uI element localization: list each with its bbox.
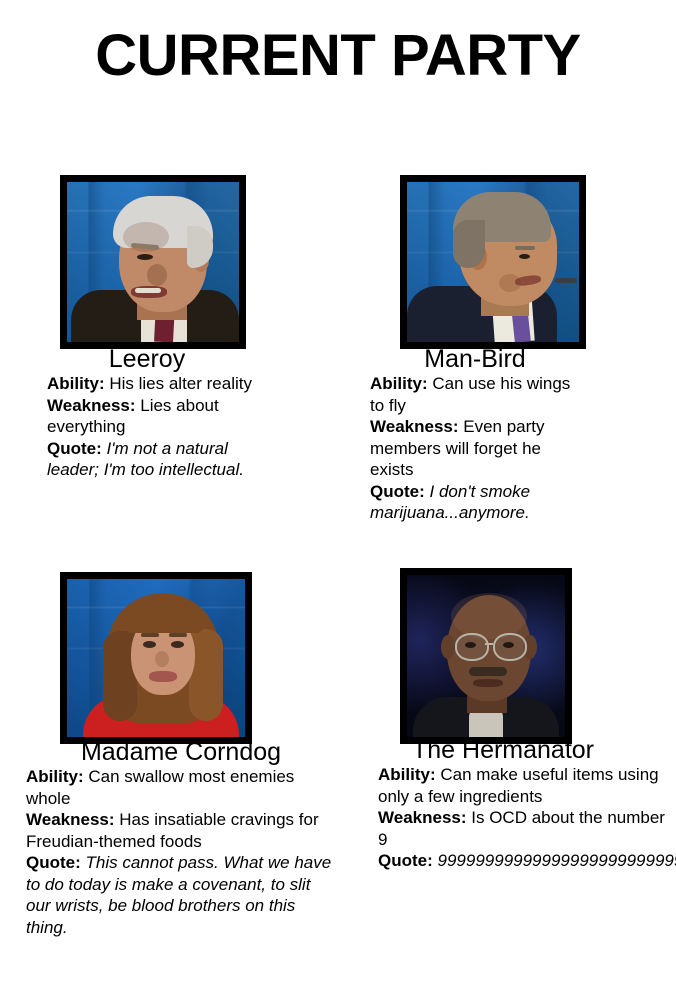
ear-left-shape [441, 635, 455, 659]
microphone-shape [555, 278, 577, 283]
stat-ability: Ability: Can make useful items using onl… [378, 764, 676, 807]
stat-label-quote: Quote: [370, 482, 425, 501]
stat-weakness: Weakness: Lies about everything [47, 395, 252, 438]
eyebrow-left-shape [141, 633, 159, 637]
character-photo-man-bird [400, 175, 586, 349]
character-name: Leeroy [47, 345, 247, 374]
eye-left-shape [143, 641, 156, 648]
stat-label-ability: Ability: [26, 767, 84, 786]
character-stats: Ability: His lies alter reality Weakness… [47, 373, 252, 481]
character-photo-leeroy [60, 175, 246, 349]
stat-label-ability: Ability: [47, 374, 105, 393]
stat-quote: Quote: I'm not a natural leader; I'm too… [47, 438, 252, 481]
eye-left-shape [465, 642, 476, 648]
teeth-shape [135, 288, 161, 293]
mouth-shape [149, 671, 177, 682]
stat-weakness: Weakness: Even party members will forget… [370, 416, 588, 481]
meme-poster: CURRENT PARTY [0, 0, 676, 995]
eyebrow-right-shape [169, 633, 187, 637]
character-stats: Ability: Can use his wings to fly Weakne… [370, 373, 588, 524]
stat-label-weakness: Weakness: [26, 810, 115, 829]
moustache-shape [469, 667, 507, 676]
stat-label-quote: Quote: [47, 439, 102, 458]
character-stats: Ability: Can make useful items using onl… [378, 764, 676, 872]
stat-quote: Quote: This cannot pass. What we have to… [26, 852, 338, 938]
character-photo-the-hermanator [400, 568, 572, 744]
stat-quote: Quote: I don't smoke marijuana...anymore… [370, 481, 588, 524]
eye-right-shape [171, 641, 184, 648]
hair-fringe-shape [125, 601, 203, 633]
eyebrow-shape [515, 246, 535, 250]
stat-label-ability: Ability: [378, 765, 436, 784]
glasses-bridge [485, 643, 493, 645]
stat-ability: Ability: Can swallow most enemies whole [26, 766, 338, 809]
eye-right-shape [503, 642, 514, 648]
stat-label-quote: Quote: [378, 851, 433, 870]
eye-shape [519, 254, 530, 259]
stat-value-quote: 999999999999999999999999999 [438, 851, 676, 870]
stat-label-ability: Ability: [370, 374, 428, 393]
hair-right-shape [189, 629, 223, 721]
nose-shadow [147, 264, 167, 286]
stat-label-weakness: Weakness: [47, 396, 136, 415]
character-name: Man-Bird [370, 345, 580, 374]
character-name: The Hermanator [378, 736, 628, 765]
hair-side-shape [453, 220, 485, 268]
character-stats: Ability: Can swallow most enemies whole … [26, 766, 338, 938]
stat-label-quote: Quote: [26, 853, 81, 872]
stat-ability: Ability: His lies alter reality [47, 373, 252, 395]
stat-quote: Quote: 999999999999999999999999999 [378, 850, 676, 872]
nose-shadow [155, 651, 169, 667]
forehead-highlight [451, 593, 527, 639]
mouth-shape [473, 679, 503, 687]
stat-ability: Ability: Can use his wings to fly [370, 373, 588, 416]
character-name: Madame Corndog [26, 738, 336, 767]
page-title: CURRENT PARTY [0, 22, 676, 90]
character-photo-madame-corndog [60, 572, 252, 744]
cheek-shadow [499, 274, 521, 292]
eye-shape [137, 254, 153, 260]
stat-weakness: Weakness: Is OCD about the number 9 [378, 807, 676, 850]
stat-value-ability: His lies alter reality [109, 374, 252, 393]
stat-label-weakness: Weakness: [378, 808, 467, 827]
stat-weakness: Weakness: Has insatiable cravings for Fr… [26, 809, 338, 852]
stat-label-weakness: Weakness: [370, 417, 459, 436]
